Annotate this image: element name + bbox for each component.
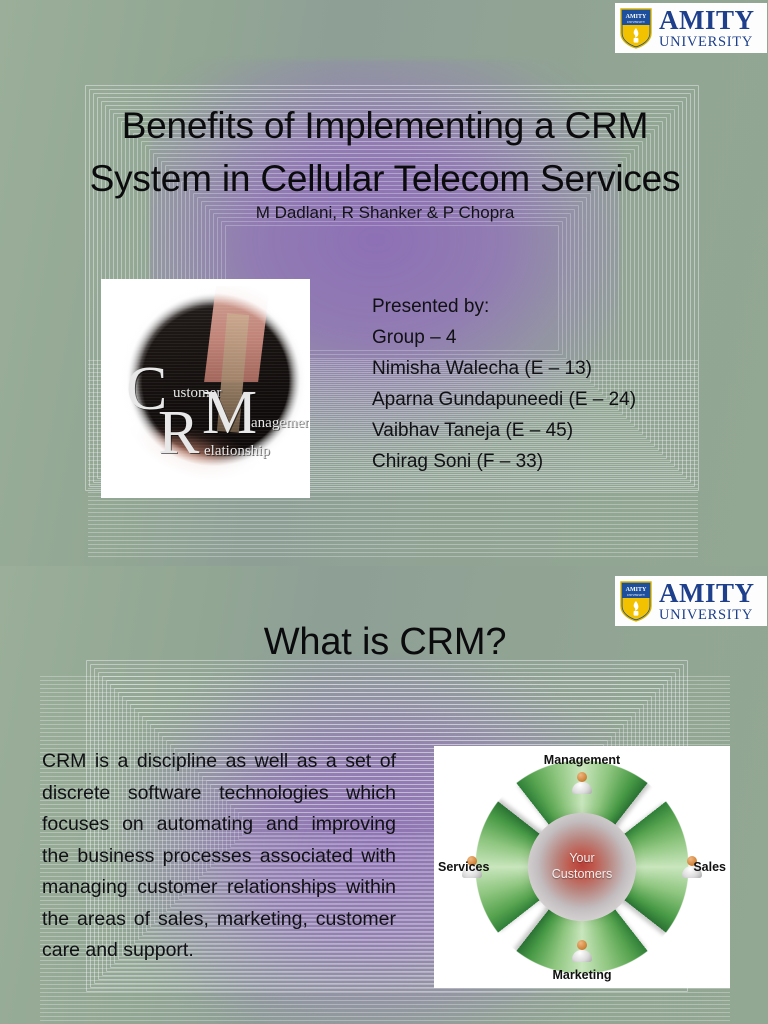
slide-2-title: What is CRM? xyxy=(40,621,730,664)
presenter-line: Vaibhav Taneja (E – 45) xyxy=(372,416,722,447)
crm-photo: C ustomer R elationship M anagement xyxy=(101,279,310,498)
diagram-label-management: Management xyxy=(544,753,620,767)
crm-customer-wheel-diagram: Your Customers Management Sales Marketin… xyxy=(434,746,730,988)
person-icon-management xyxy=(572,772,592,794)
amity-wordmark: AMITY UNIVERSITY xyxy=(659,580,755,623)
crm-lettering: C ustomer R elationship M anagement xyxy=(116,354,306,474)
slide-title: AMITY UNIVERSITY AMITY UNIVERSITY Benefi… xyxy=(0,0,768,566)
svg-text:UNIVERSITY: UNIVERSITY xyxy=(627,20,646,24)
diagram-label-marketing: Marketing xyxy=(552,968,611,982)
crm-word-management: anagement xyxy=(251,416,309,431)
diagram-center-line2: Customers xyxy=(552,867,612,881)
presenter-line: Nimisha Walecha (E – 13) xyxy=(372,354,722,385)
crm-letter-r: R xyxy=(158,402,199,464)
amity-logo: AMITY UNIVERSITY AMITY UNIVERSITY xyxy=(615,3,767,53)
presenter-list: Presented by: Group – 4 Nimisha Walecha … xyxy=(372,292,722,478)
slides-page: AMITY UNIVERSITY AMITY UNIVERSITY Benefi… xyxy=(0,0,768,1024)
amity-wordmark-line2: UNIVERSITY xyxy=(659,35,755,50)
person-icon-marketing xyxy=(572,940,592,962)
slide-1-title-line1: Benefits of Implementing a CRM xyxy=(122,105,649,146)
slide-1-title-line2: System in Cellular Telecom Services xyxy=(90,158,681,199)
amity-wordmark: AMITY UNIVERSITY xyxy=(659,7,755,50)
diagram-center-your-customers: Your Customers xyxy=(528,813,636,921)
diagram-label-services: Services xyxy=(438,860,489,874)
diagram-center-text: Your Customers xyxy=(552,851,612,882)
amity-logo: AMITY UNIVERSITY AMITY UNIVERSITY xyxy=(615,576,767,626)
slide-2-body-text: CRM is a discipline as well as a set of … xyxy=(42,746,396,967)
amity-wordmark-line1: AMITY xyxy=(659,580,755,607)
diagram-center-line1: Your xyxy=(569,851,594,865)
diagram-label-sales: Sales xyxy=(693,860,726,874)
amity-crest-icon: AMITY UNIVERSITY xyxy=(619,7,653,49)
amity-crest-icon: AMITY UNIVERSITY xyxy=(619,580,653,622)
presenter-line: Aparna Gundapuneedi (E – 24) xyxy=(372,385,722,416)
slide-what-is-crm: AMITY UNIVERSITY AMITY UNIVERSITY What i… xyxy=(0,566,768,1024)
slide-1-subtitle: M Dadlani, R Shanker & P Chopra xyxy=(40,203,730,223)
presenter-line: Group – 4 xyxy=(372,323,722,354)
svg-text:UNIVERSITY: UNIVERSITY xyxy=(627,593,646,597)
crm-letter-m: M xyxy=(202,382,257,444)
presenter-line: Presented by: xyxy=(372,292,722,323)
amity-wordmark-line1: AMITY xyxy=(659,7,755,34)
slide-1-title: Benefits of Implementing a CRM System in… xyxy=(40,100,730,205)
crm-photo-inner: C ustomer R elationship M anagement xyxy=(102,280,309,497)
presenter-line: Chirag Soni (F – 33) xyxy=(372,447,722,478)
